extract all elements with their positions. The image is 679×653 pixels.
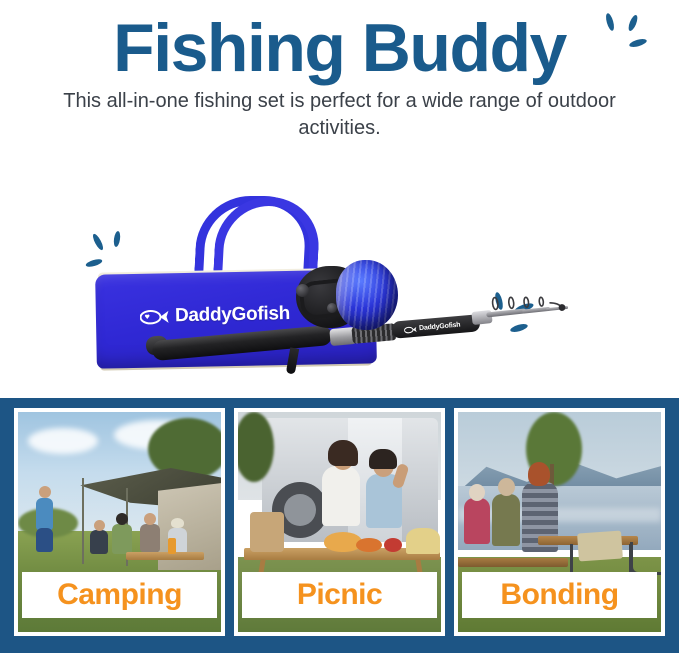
bonding-label-band: Bonding [462,572,657,618]
use-cases-band: Camping [0,398,679,653]
page-title: Fishing Buddy [0,6,679,90]
reel-knob [296,284,309,297]
picnic-label: Picnic [297,580,382,610]
reel-spool-cover [336,260,398,330]
use-case-card-camping[interactable]: Camping [14,408,225,636]
product-image: DaddyGofish DaddyGofish [0,188,679,384]
title-splash-icon [597,10,657,66]
rod-brand-text: DaddyGofish [419,322,461,333]
camping-label-band: Camping [22,572,217,618]
product-infographic: Fishing Buddy This all-in-one fishing se… [0,0,679,653]
hero-section: Fishing Buddy This all-in-one fishing se… [0,0,679,398]
page-subtitle: This all-in-one fishing set is perfect f… [60,88,620,142]
reel-screw [327,303,337,313]
picnic-label-band: Picnic [242,572,437,618]
bag-brand-text: DaddyGofish [175,303,290,327]
use-case-card-list: Camping [14,408,665,643]
title-container: Fishing Buddy [0,6,679,90]
camping-label: Camping [57,580,182,610]
fish-icon [140,308,170,326]
fish-icon-small [404,325,418,334]
bonding-label: Bonding [500,580,618,610]
use-case-card-picnic[interactable]: Picnic [234,408,445,636]
use-case-card-bonding[interactable]: Bonding [454,408,665,636]
